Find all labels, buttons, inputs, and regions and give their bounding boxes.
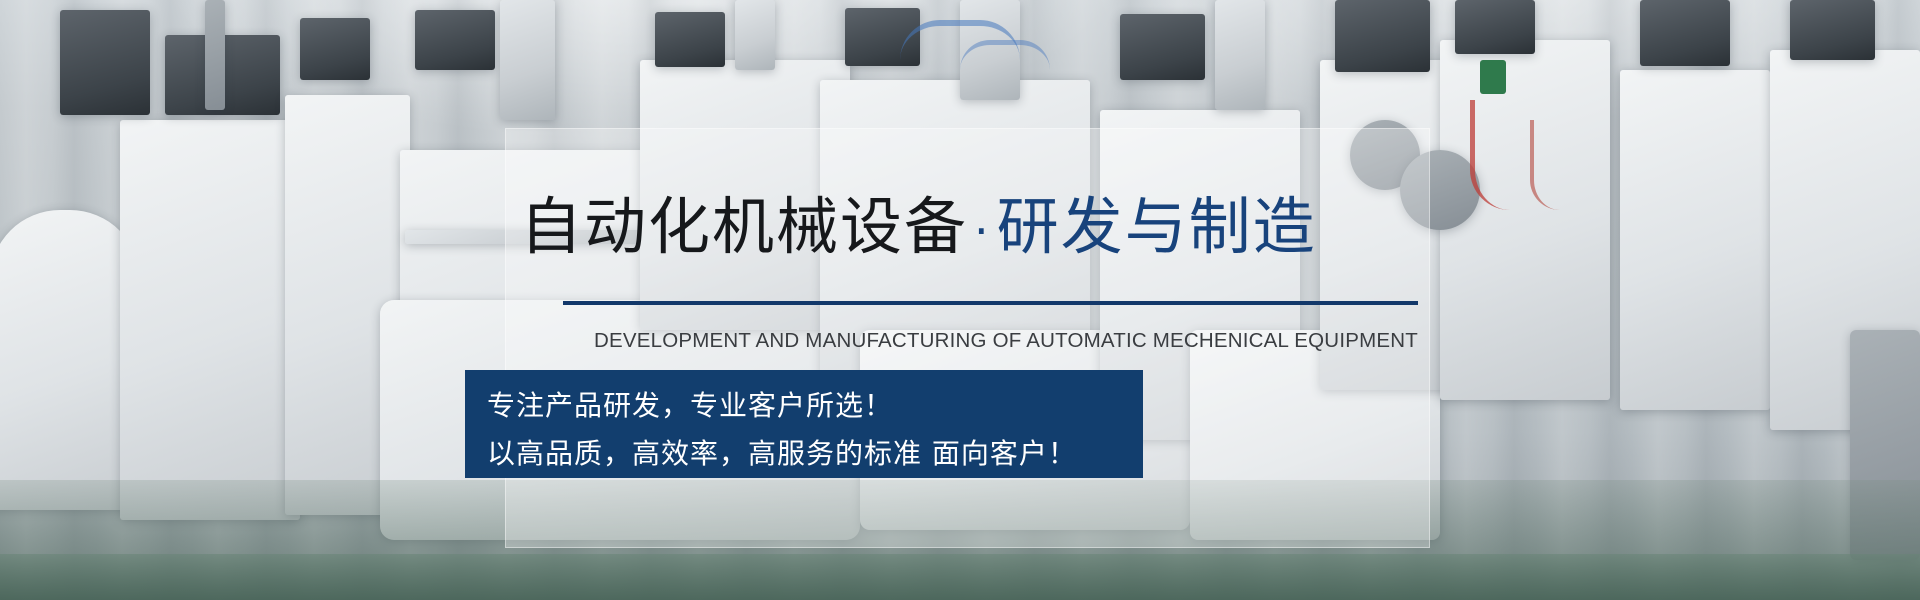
slogan-box: 专注产品研发，专业客户所选！ 以高品质，高效率，高服务的标准 面向客户！ [465,370,1143,478]
banner-headline: 自动化机械设备·研发与制造 [520,196,1317,258]
slogan-line-1: 专注产品研发，专业客户所选！ [487,384,893,424]
banner-content: 自动化机械设备·研发与制造 DEVELOPMENT AND MANUFACTUR… [0,0,1920,600]
slogan-line-2: 以高品质，高效率，高服务的标准 面向客户！ [487,432,1077,472]
headline-accent-text: 研发与制造 [997,190,1317,263]
headline-divider-rule [563,301,1418,305]
headline-primary-text: 自动化机械设备 [520,190,968,263]
hero-banner: 自动化机械设备·研发与制造 DEVELOPMENT AND MANUFACTUR… [0,0,1920,600]
headline-separator-dot: · [968,204,997,258]
banner-subtitle-english: DEVELOPMENT AND MANUFACTURING OF AUTOMAT… [594,329,1418,353]
